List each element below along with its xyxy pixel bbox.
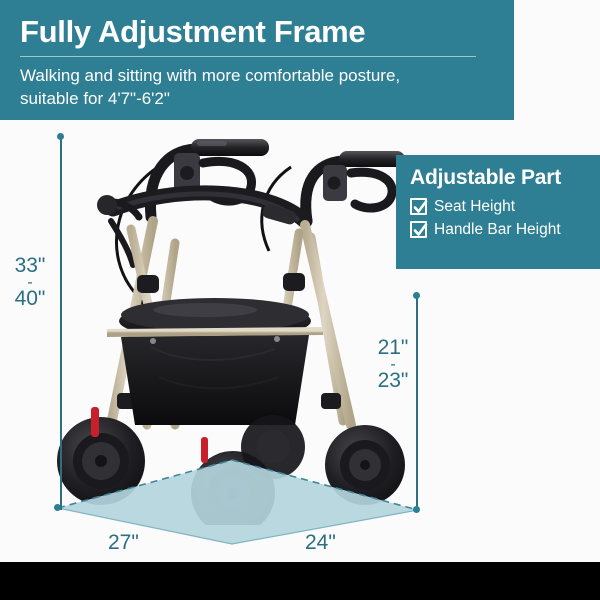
- footer-bar: [0, 562, 600, 600]
- adjustable-part-panel: Adjustable Part Seat Height Handle Bar H…: [396, 155, 600, 269]
- handlebar-left: [150, 139, 269, 217]
- dimension-line-seat-height: [416, 296, 418, 512]
- adjustable-part-title: Adjustable Part: [410, 164, 600, 191]
- wheel-accent-stripe: [91, 407, 99, 437]
- dimension-label-width: 24": [305, 532, 336, 554]
- handle-height-min: 40": [6, 288, 54, 310]
- adjustable-item-seat-height[interactable]: Seat Height: [410, 197, 600, 216]
- header-divider: [20, 56, 476, 57]
- header-subtitle: Walking and sitting with more comfortabl…: [20, 64, 490, 110]
- dimension-label-depth: 27": [108, 532, 139, 554]
- dimension-endpoint-top-left: [57, 133, 64, 140]
- storage-bag: [121, 335, 309, 425]
- dimension-label-seat-height: 21" - 23": [371, 337, 415, 392]
- seat-height-max: 23": [371, 370, 415, 392]
- adjustable-item-label-seat-height: Seat Height: [434, 197, 515, 216]
- dimension-label-handle-height: 33" - 40": [6, 255, 54, 310]
- infographic-page: Fully Adjustment Frame Walking and sitti…: [0, 0, 600, 600]
- handlebar-right: [306, 151, 405, 221]
- dimension-endpoint-bottom-left: [54, 504, 61, 511]
- checkbox-checked-icon[interactable]: [410, 198, 427, 215]
- header-subtitle-line-2: suitable for 4'7"-6'2": [20, 87, 490, 110]
- header-banner: Fully Adjustment Frame Walking and sitti…: [0, 0, 514, 120]
- dimension-endpoint-bottom-right: [413, 506, 420, 513]
- adjustable-item-handle-bar-height[interactable]: Handle Bar Height: [410, 220, 600, 239]
- adjustable-item-label-handle-bar-height: Handle Bar Height: [434, 220, 561, 239]
- ground-plane: [0, 440, 600, 560]
- seat-rail: [107, 331, 323, 333]
- header-subtitle-line-1: Walking and sitting with more comfortabl…: [20, 64, 490, 87]
- page-title: Fully Adjustment Frame: [20, 12, 514, 52]
- checkbox-checked-icon[interactable]: [410, 221, 427, 238]
- dimension-line-handle-height: [60, 138, 62, 510]
- dimension-endpoint-top-right: [413, 292, 420, 299]
